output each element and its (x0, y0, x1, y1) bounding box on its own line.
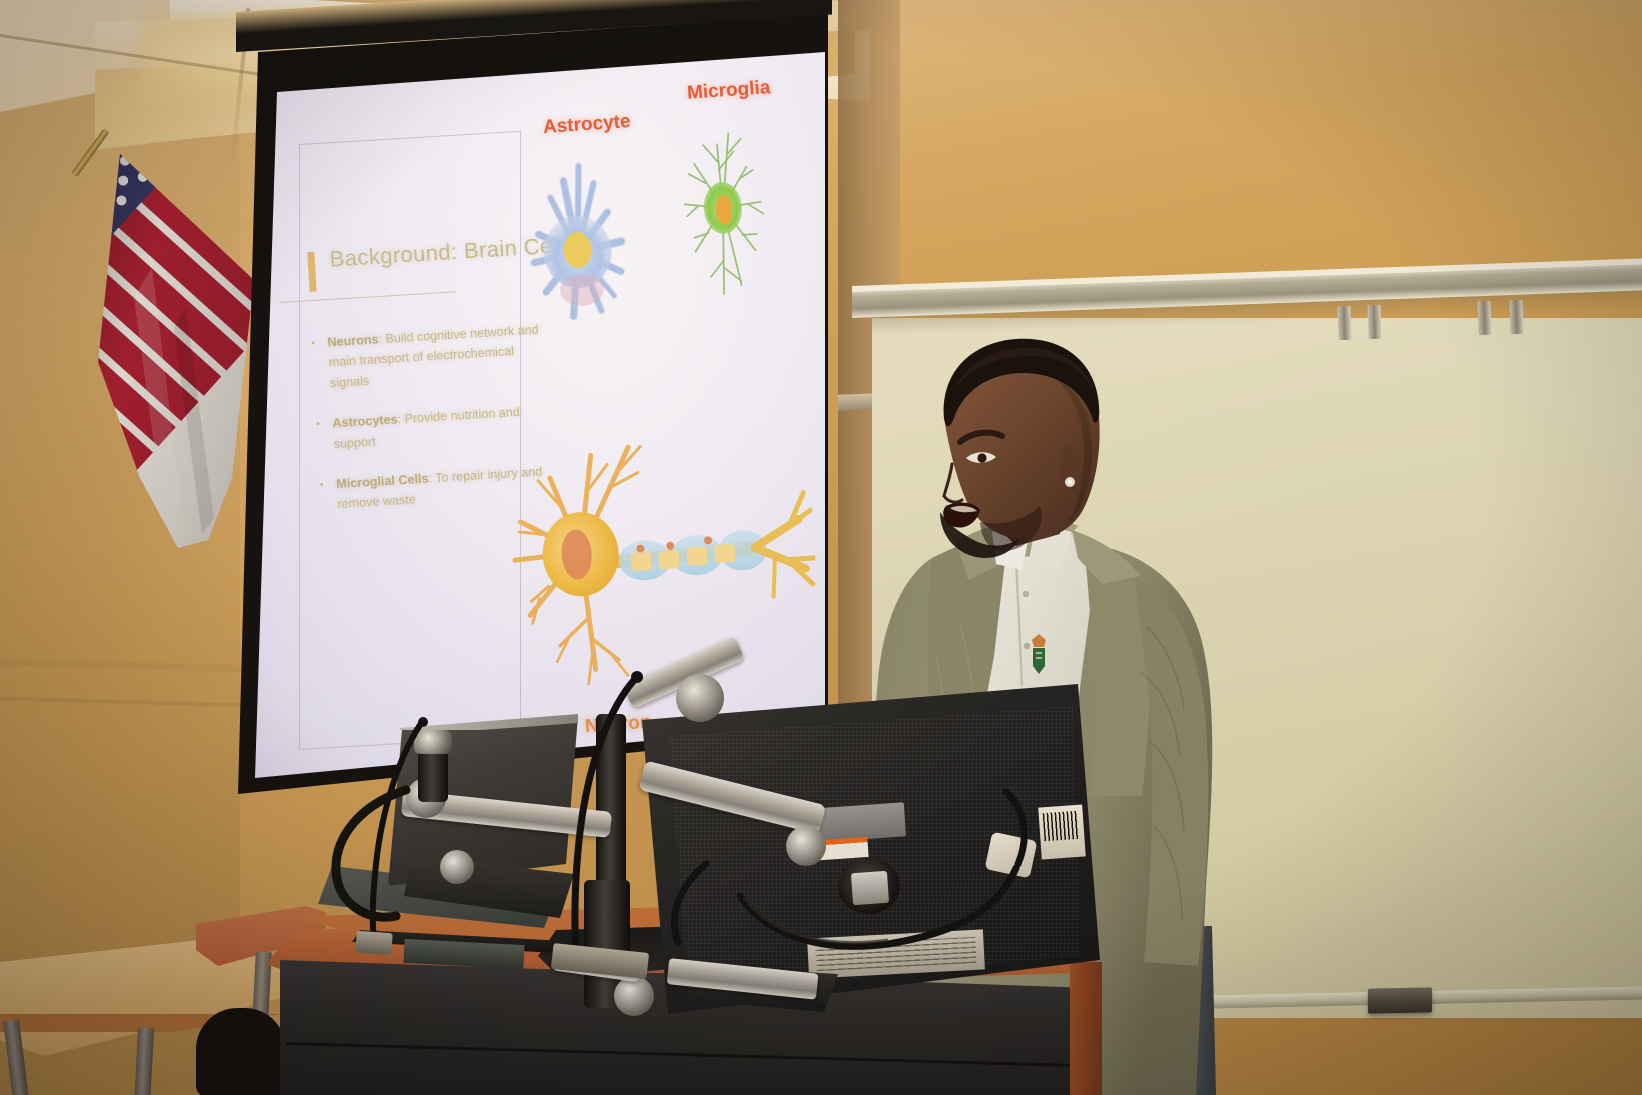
slide-label-astrocyte: Astrocyte (542, 111, 631, 139)
american-flag (82, 148, 262, 548)
astrocyte-illustration (507, 136, 649, 344)
monitor-arm-joint (786, 826, 826, 866)
lecture-hall-photo: Background: Brain Cells Neurons: Build c… (0, 0, 1642, 1095)
whiteboard-bracket (1509, 300, 1523, 334)
table-leg (134, 1028, 154, 1095)
monitor-arm-joint (614, 976, 654, 1016)
gooseneck-microphone[interactable] (540, 660, 680, 960)
bullet-term: Neurons (327, 332, 379, 349)
bullet-term: Microglial Cells (336, 471, 429, 491)
bullet-term: Astrocytes (332, 412, 398, 430)
neuron-illustration (477, 418, 822, 698)
microglia-illustration (657, 107, 789, 314)
monitor-arm-joint (676, 674, 724, 722)
whiteboard-bracket (1367, 305, 1381, 339)
whiteboard-eraser[interactable] (1368, 987, 1432, 1013)
cable-loop (310, 780, 460, 950)
whiteboard-bracket (1477, 301, 1491, 335)
classroom-chair (196, 1008, 286, 1095)
whiteboard-bracket (1337, 306, 1351, 340)
slide-label-microglia: Microglia (686, 77, 771, 105)
